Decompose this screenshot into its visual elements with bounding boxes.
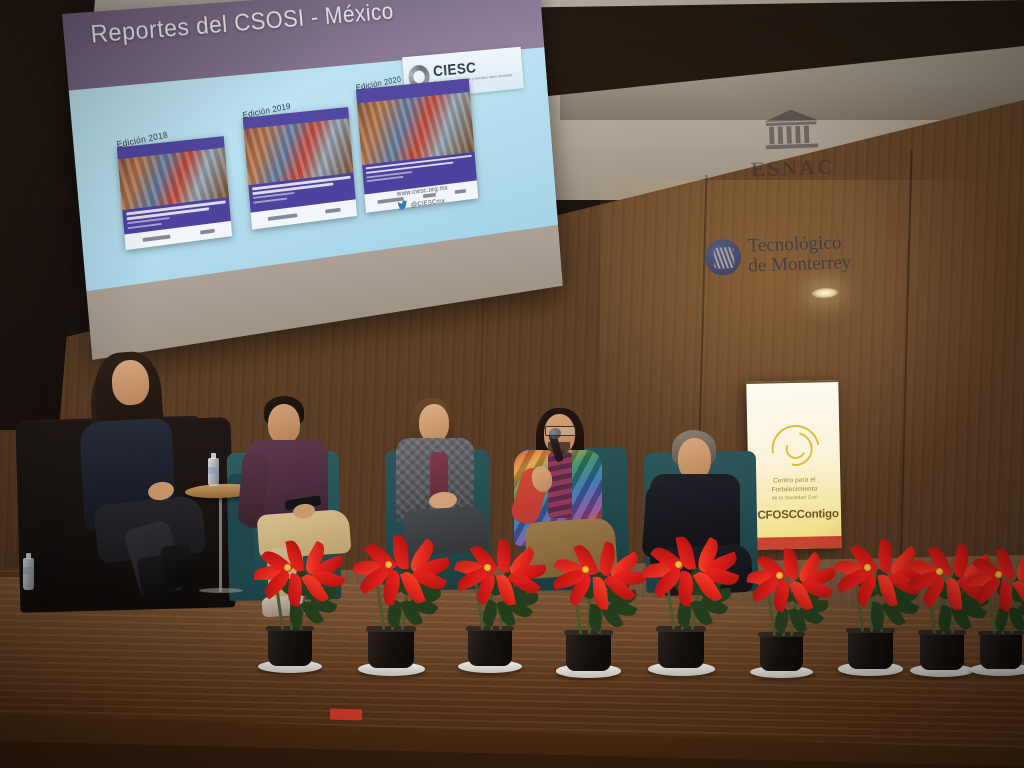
- water-bottle-table: [208, 458, 219, 486]
- panelist-4-beard: [548, 442, 570, 454]
- plant-pot: [368, 626, 414, 668]
- panelist-4-glasses-icon: [545, 426, 576, 436]
- cfosc-spiral-icon: [771, 425, 816, 470]
- edition-2018: Edición 2018: [115, 124, 232, 250]
- poinsettia-center: [776, 572, 783, 579]
- plant-pot: [658, 626, 704, 668]
- panelist-3-head: [419, 404, 449, 442]
- conference-panel-photo: ESNAC Tecnológico de Monterrey Reportes …: [0, 0, 1024, 768]
- esnac-wall-logo: ESNAC: [736, 104, 849, 190]
- cfosc-rollup-banner: Centro para el Fortalecimiento de la Soc…: [746, 380, 841, 550]
- plant-pot: [920, 630, 964, 670]
- water-bottle-floor: [23, 558, 34, 590]
- poinsettia-center: [675, 561, 682, 568]
- report-cover: [117, 136, 233, 250]
- banner-org-line3: de la Sociedad Civil: [755, 494, 835, 502]
- unesco-temple-icon: [760, 105, 823, 151]
- floor-marker: [330, 709, 362, 721]
- twitter-bird-icon: [398, 200, 408, 210]
- side-table-leg: [219, 494, 222, 592]
- plant-pot: [980, 631, 1022, 669]
- panelist-1-boot-right: [160, 544, 194, 589]
- plant-pot: [268, 626, 312, 666]
- plant-pot: [566, 630, 611, 671]
- poinsettia-center: [284, 564, 291, 571]
- poinsettia-center: [385, 561, 392, 568]
- edition-2019: Edición 2019: [241, 95, 357, 230]
- panelist-2-head: [268, 404, 300, 444]
- side-table-base: [199, 588, 243, 593]
- poinsettia-center: [936, 568, 943, 575]
- esnac-label: ESNAC: [737, 154, 848, 183]
- banner-footer-stripe: [750, 536, 842, 550]
- plant-pot: [760, 632, 803, 671]
- poinsettia-center: [484, 564, 491, 571]
- banner-hashtag: #CFOSCContigo: [749, 508, 841, 522]
- plant-pot: [468, 626, 512, 666]
- banner-org-name: Centro para el Fortalecimiento de la Soc…: [754, 476, 834, 502]
- tec-monterrey-wall-logo: Tecnológico de Monterrey: [704, 225, 881, 285]
- tec-line2: de Monterrey: [748, 253, 852, 277]
- plant-pot: [848, 628, 893, 669]
- tec-monterrey-icon: [704, 239, 741, 276]
- report-cover: [242, 107, 357, 230]
